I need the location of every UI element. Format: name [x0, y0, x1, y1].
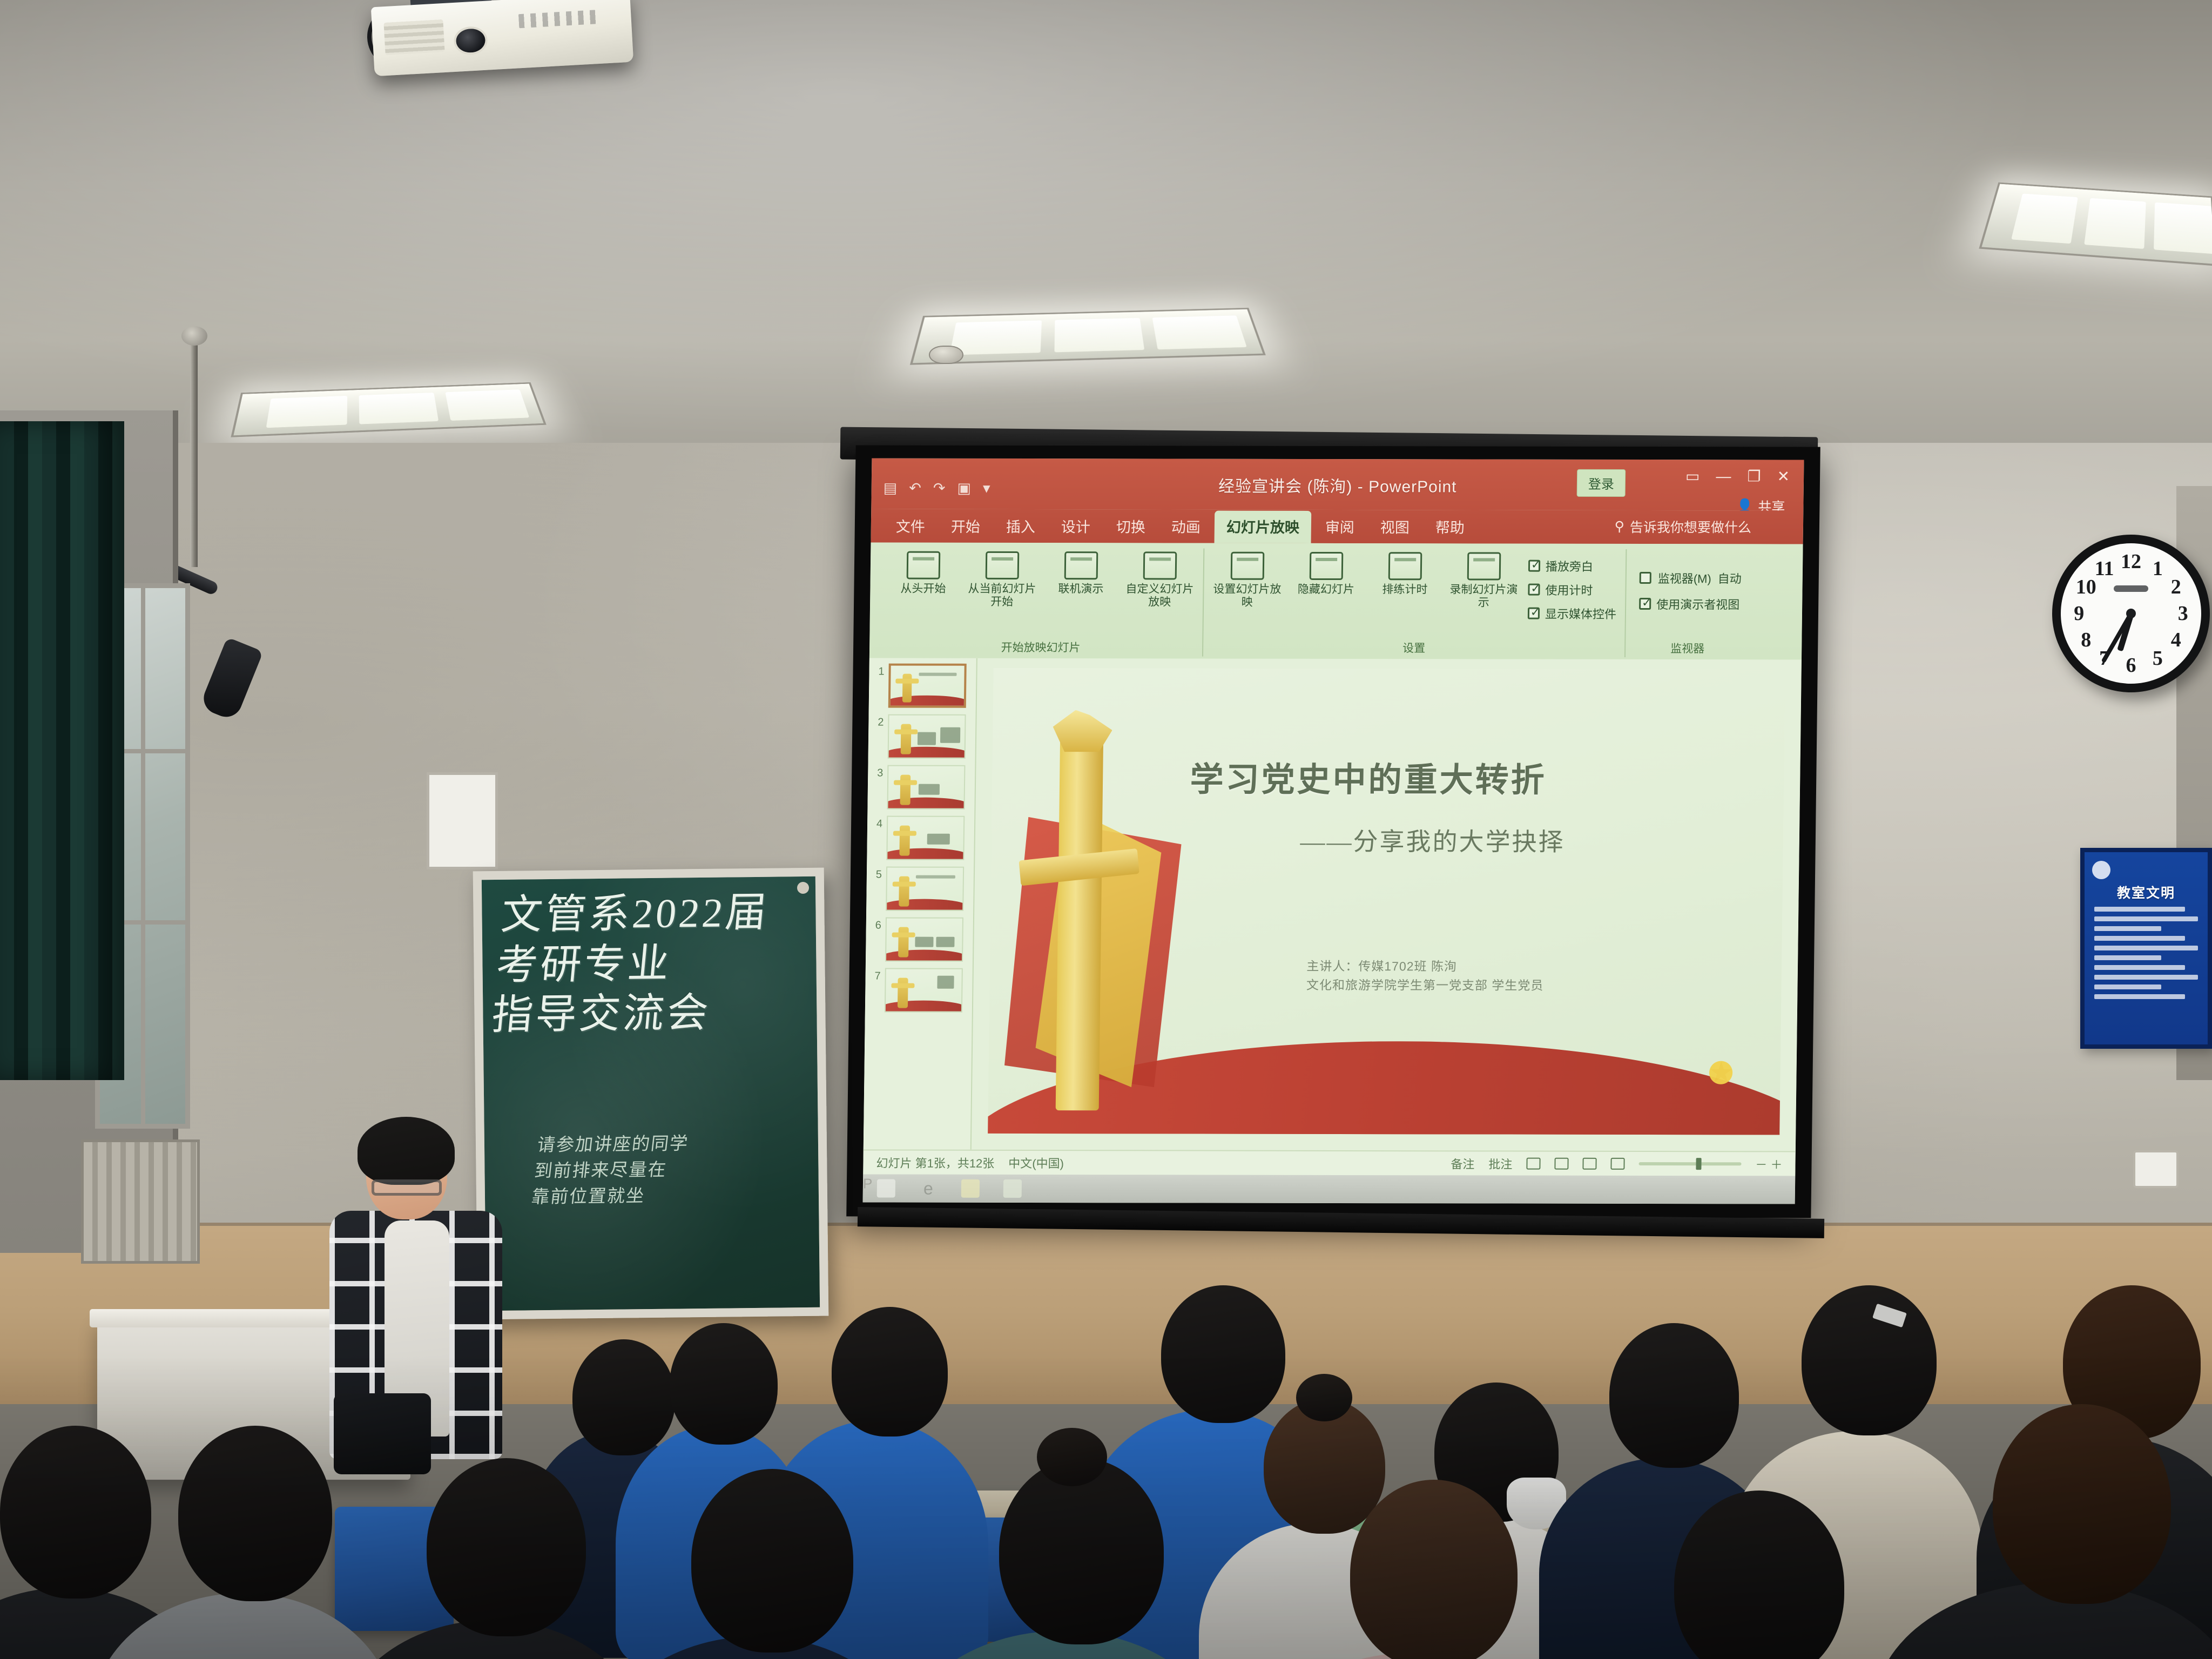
hide-slide-button[interactable]: 隐藏幻灯片: [1291, 549, 1361, 596]
presenter-glasses-icon: [372, 1179, 442, 1196]
clock-numeral: 6: [2117, 651, 2145, 679]
record-slideshow-label: 录制幻灯片演示: [1449, 583, 1519, 610]
use-timings-label: 使用计时: [1545, 581, 1593, 598]
projector-label: [518, 10, 600, 28]
status-bar-right[interactable]: 备注 批注 － ＋: [1451, 1155, 1783, 1172]
save-icon[interactable]: ▤: [884, 480, 898, 497]
group-title-start-slideshow: 开始放映幻灯片: [879, 639, 1202, 656]
setup-slideshow-button[interactable]: 设置幻灯片放映: [1212, 549, 1282, 609]
tab-design[interactable]: 设计: [1049, 510, 1102, 543]
comments-button[interactable]: 批注: [1488, 1155, 1512, 1172]
present-online-button[interactable]: 联机演示: [1046, 548, 1116, 596]
poster-text-line: [2094, 984, 2161, 989]
projected-image: ▤ ↶ ↷ ▣ ▾ 经验宣讲会 (陈洵) - PowerPoint 登录 ▭ —…: [863, 458, 1804, 1204]
customize-qat-icon[interactable]: ▾: [983, 480, 990, 497]
monitor-dropdown[interactable]: 监视器(M) 自动: [1640, 569, 1742, 586]
folder-icon[interactable]: [961, 1179, 980, 1198]
lightbulb-icon: ⚲: [1614, 518, 1624, 535]
zoom-level-label: － ＋: [1755, 1155, 1783, 1172]
poster-text-line: [2094, 907, 2185, 912]
hide-slide-icon: [1310, 552, 1344, 580]
thumbnail-number: 6: [871, 917, 881, 932]
poster-text-line: [2094, 946, 2198, 950]
quick-access-toolbar[interactable]: ▤ ↶ ↷ ▣ ▾: [884, 480, 990, 497]
tab-review[interactable]: 审阅: [1313, 511, 1367, 543]
powerpoint-icon[interactable]: P: [863, 1174, 881, 1192]
wall-poster: 教室文明: [2080, 848, 2212, 1049]
blackboard-note-line: 靠前位置就坐: [530, 1182, 781, 1211]
tell-me-search[interactable]: ⚲ 告诉我你想要做什么: [1614, 517, 1751, 536]
sign-in-button[interactable]: 登录: [1577, 469, 1626, 497]
tab-transitions[interactable]: 切换: [1104, 510, 1158, 543]
group-title-setup: 设置: [1203, 639, 1624, 656]
thumbnail-preview[interactable]: [887, 765, 965, 810]
custom-slideshow-label: 自定义幻灯片放映: [1125, 583, 1195, 609]
presenter-person: [324, 1112, 508, 1501]
from-beginning-label: 从头开始: [888, 583, 957, 596]
radiator: [81, 1139, 200, 1264]
hide-slide-label: 隐藏幻灯片: [1291, 583, 1360, 596]
poster-text-line: [2094, 916, 2198, 921]
thumbnail-preview[interactable]: [885, 918, 963, 962]
thumbnail-item[interactable]: 1: [873, 664, 972, 708]
thumbnail-item[interactable]: 3: [872, 765, 970, 810]
thumbnail-item[interactable]: 2: [873, 714, 972, 759]
thumbnail-item[interactable]: 7: [869, 968, 968, 1012]
clock-numeral: 3: [2169, 599, 2197, 628]
tab-animations[interactable]: 动画: [1159, 510, 1213, 543]
thumbnail-preview[interactable]: [886, 816, 965, 860]
tab-file[interactable]: 文件: [884, 510, 937, 543]
editing-area: 1 2: [864, 658, 1802, 1151]
record-slideshow-button[interactable]: 录制幻灯片演示: [1449, 549, 1519, 609]
wall-clock: 12 1 2 3 4 5 6 7 8 9 10 11: [2052, 535, 2210, 692]
show-media-controls-label: 显示媒体控件: [1545, 605, 1616, 622]
ribbon-group-start-slideshow: 从头开始 从当前幻灯片开始 联机演示: [879, 548, 1203, 657]
clock-numeral: 2: [2162, 573, 2190, 601]
monitor-value: 自动: [1718, 569, 1742, 586]
hair-bun: [1037, 1428, 1107, 1486]
play-narrations-label: 播放旁白: [1546, 557, 1593, 575]
from-beginning-button[interactable]: 从头开始: [888, 548, 958, 596]
thumbnail-number: 2: [873, 714, 884, 729]
thumbnail-item[interactable]: 4: [871, 816, 970, 860]
thumbnail-number: 1: [873, 664, 884, 678]
blackboard: 文管系2022届 考研专业 指导交流会 请参加讲座的同学 到前排来尽量在 靠前位…: [473, 868, 829, 1320]
projector-lens-icon: [453, 26, 488, 56]
normal-view-icon[interactable]: [1526, 1158, 1540, 1170]
slide-subtitle: ——分享我的大学抉择: [1300, 822, 1759, 858]
tab-help[interactable]: 帮助: [1424, 511, 1477, 543]
thumbnail-preview[interactable]: [888, 714, 966, 759]
restore-icon[interactable]: ❐: [1747, 467, 1761, 485]
huabiao-pillar-graphic: [1055, 738, 1103, 1110]
rehearse-timings-button[interactable]: 排练计时: [1370, 549, 1440, 596]
monitor-icon: [1640, 572, 1651, 584]
poster-text-line: [2094, 994, 2185, 999]
presenter-line-2: 文化和旅游学院学生第一党支部 学生党员: [1306, 976, 1750, 995]
poster-text-line: [2094, 926, 2161, 931]
minimize-icon[interactable]: —: [1716, 468, 1731, 485]
present-online-icon: [1064, 551, 1098, 579]
play-narrations-checkbox[interactable]: 播放旁白: [1528, 557, 1617, 575]
poster-logo-icon: [2092, 861, 2110, 879]
rehearse-timings-label: 排练计时: [1370, 583, 1439, 596]
slide-sorter-icon[interactable]: [1554, 1158, 1568, 1170]
from-current-label: 从当前幻灯片开始: [967, 583, 1037, 609]
powerpoint-window: ▤ ↶ ↷ ▣ ▾ 经验宣讲会 (陈洵) - PowerPoint 登录 ▭ —…: [863, 458, 1804, 1204]
thumbnail-preview[interactable]: [885, 968, 963, 1013]
internet-explorer-icon[interactable]: e: [919, 1179, 938, 1198]
record-slideshow-icon: [1467, 552, 1501, 580]
notes-button[interactable]: 备注: [1451, 1155, 1474, 1172]
ceiling-pole: [190, 335, 198, 567]
smoke-detector-icon: [929, 346, 963, 364]
undo-icon[interactable]: ↶: [909, 480, 921, 497]
clock-numeral: 8: [2072, 626, 2100, 654]
poster-text-line: [2094, 936, 2185, 941]
use-presenter-view-label: 使用演示者视图: [1656, 595, 1739, 612]
blackboard-note-line: 到前排来尽量在: [533, 1156, 784, 1185]
poster-text-line: [2094, 965, 2185, 970]
windows-taskbar[interactable]: e P: [863, 1174, 1796, 1204]
clock-center-pin: [2126, 609, 2136, 618]
clock-brandmark: [2114, 585, 2148, 592]
checkbox-icon: [1528, 560, 1540, 572]
poster-title: 教室文明: [2092, 882, 2200, 902]
use-timings-checkbox[interactable]: 使用计时: [1528, 581, 1616, 598]
checkbox-icon: [1528, 584, 1540, 596]
play-from-current-icon: [986, 551, 1020, 579]
thumbnail-number: 5: [871, 867, 882, 881]
blackboard-headline-line: 指导交流会: [489, 987, 818, 1041]
hair-bun: [1296, 1374, 1352, 1421]
slide-thumbnail-panel[interactable]: 1 2: [864, 658, 977, 1150]
current-slide[interactable]: 学习党史中的重大转折 ——分享我的大学抉择 主讲人：传媒1702班 陈洵 文化和…: [988, 668, 1785, 1135]
window-curtain: [0, 421, 124, 1080]
thumbnail-preview[interactable]: [888, 664, 967, 708]
thumbnail-number: 7: [870, 968, 881, 982]
wall-outlet: [2133, 1150, 2179, 1188]
show-media-controls-checkbox[interactable]: 显示媒体控件: [1528, 605, 1616, 622]
clock-numeral: 5: [2143, 644, 2171, 672]
from-current-slide-button[interactable]: 从当前幻灯片开始: [967, 548, 1037, 609]
tell-me-label: 告诉我你想要做什么: [1630, 517, 1751, 536]
poster-text-line: [2094, 955, 2161, 960]
tab-view[interactable]: 视图: [1368, 511, 1422, 543]
ribbon[interactable]: 从头开始 从当前幻灯片开始 联机演示: [869, 543, 1803, 660]
redo-icon[interactable]: ↷: [933, 480, 946, 497]
play-from-start-icon: [907, 551, 941, 579]
blackboard-headline: 文管系2022届 考研专业 指导交流会: [489, 887, 827, 1041]
clock-numeral: 12: [2117, 548, 2145, 576]
slide-title: 学习党史中的重大转折: [1190, 752, 1761, 802]
checkbox-icon: [1528, 608, 1540, 619]
group-title-monitors: 监视器: [1626, 640, 1749, 656]
tab-insert[interactable]: 插入: [994, 510, 1047, 543]
projector-vent: [383, 19, 444, 55]
slide-presenter-info: 主讲人：传媒1702班 陈洵 文化和旅游学院学生第一党支部 学生党员: [1306, 957, 1750, 995]
custom-slideshow-button[interactable]: 自定义幻灯片放映: [1125, 548, 1195, 609]
pole-mount: [181, 326, 207, 346]
ribbon-group-monitors: 监视器(M) 自动 使用演示者视图 监视器: [1624, 549, 1750, 657]
monitor-label: 监视器(M): [1658, 569, 1711, 586]
presenter-bag: [334, 1393, 431, 1474]
blackboard-headline-line: 文管系2022届: [499, 887, 828, 941]
blackboard-headline-line: 考研专业: [494, 937, 823, 990]
close-icon[interactable]: ✕: [1777, 467, 1790, 485]
clock-numeral: 11: [2090, 555, 2119, 583]
setup-slideshow-icon: [1231, 552, 1265, 580]
document-title: 经验宣讲会 (陈洵) - PowerPoint: [1218, 473, 1457, 497]
poster-text-line: [2094, 975, 2198, 980]
thumbnail-number: 4: [872, 816, 882, 831]
blackboard-note-line: 请参加讲座的同学: [536, 1130, 787, 1159]
ceiling-light: [910, 308, 1266, 365]
thumbnail-item[interactable]: 5: [871, 867, 969, 911]
file-explorer-icon[interactable]: [1003, 1179, 1022, 1198]
zoom-slider[interactable]: [1638, 1162, 1741, 1165]
title-bar: ▤ ↶ ↷ ▣ ▾ 经验宣讲会 (陈洵) - PowerPoint 登录 ▭ —…: [871, 458, 1804, 511]
setup-slideshow-label: 设置幻灯片放映: [1212, 583, 1282, 610]
ribbon-display-options-icon[interactable]: ▭: [1685, 467, 1700, 485]
classroom-photo: 12 1 2 3 4 5 6 7 8 9 10 11 教室文明: [0, 0, 2212, 1659]
slide-stage: 学习党史中的重大转折 ——分享我的大学抉择 主讲人：传媒1702班 陈洵 文化和…: [972, 658, 1802, 1151]
reading-view-icon[interactable]: [1582, 1158, 1596, 1170]
tab-home[interactable]: 开始: [939, 510, 992, 543]
slideshow-icon[interactable]: [1610, 1158, 1624, 1170]
status-bar: 幻灯片 第1张，共12张 中文(中国) 备注 批注 － ＋: [863, 1149, 1796, 1176]
projection-screen: ▤ ↶ ↷ ▣ ▾ 经验宣讲会 (陈洵) - PowerPoint 登录 ▭ —…: [846, 445, 1820, 1218]
thumbnail-item[interactable]: 6: [870, 917, 969, 961]
party-emblem-icon: [1705, 1057, 1737, 1088]
ribbon-tabs[interactable]: 文件 开始 插入 设计 切换 动画 幻灯片放映 审阅 视图 帮助 ⚲ 告诉我你想…: [871, 509, 1803, 544]
language-label[interactable]: 中文(中国): [1008, 1154, 1064, 1171]
thumbnail-preview[interactable]: [886, 867, 964, 911]
wall-notice: [427, 772, 498, 869]
tab-slideshow[interactable]: 幻灯片放映: [1215, 511, 1312, 543]
thumbnail-number: 3: [872, 765, 883, 780]
use-presenter-view-checkbox[interactable]: 使用演示者视图: [1639, 595, 1739, 612]
checkbox-icon: [1639, 598, 1651, 610]
rehearse-timings-icon: [1388, 552, 1422, 580]
present-online-label: 联机演示: [1046, 583, 1115, 596]
slide-count-label: 幻灯片 第1张，共12张: [876, 1154, 994, 1171]
presenter-hair: [358, 1117, 455, 1185]
ribbon-group-setup: 设置幻灯片放映 隐藏幻灯片 排练计时: [1202, 549, 1626, 657]
clock-numeral: 9: [2065, 599, 2093, 628]
window-controls[interactable]: ▭ — ❐ ✕: [1685, 467, 1790, 485]
custom-slideshow-icon: [1143, 551, 1177, 579]
presenter-line-1: 主讲人：传媒1702班 陈洵: [1306, 957, 1750, 976]
start-slideshow-icon[interactable]: ▣: [957, 480, 971, 497]
blackboard-note: 请参加讲座的同学 到前排来尽量在 靠前位置就坐: [530, 1130, 787, 1211]
